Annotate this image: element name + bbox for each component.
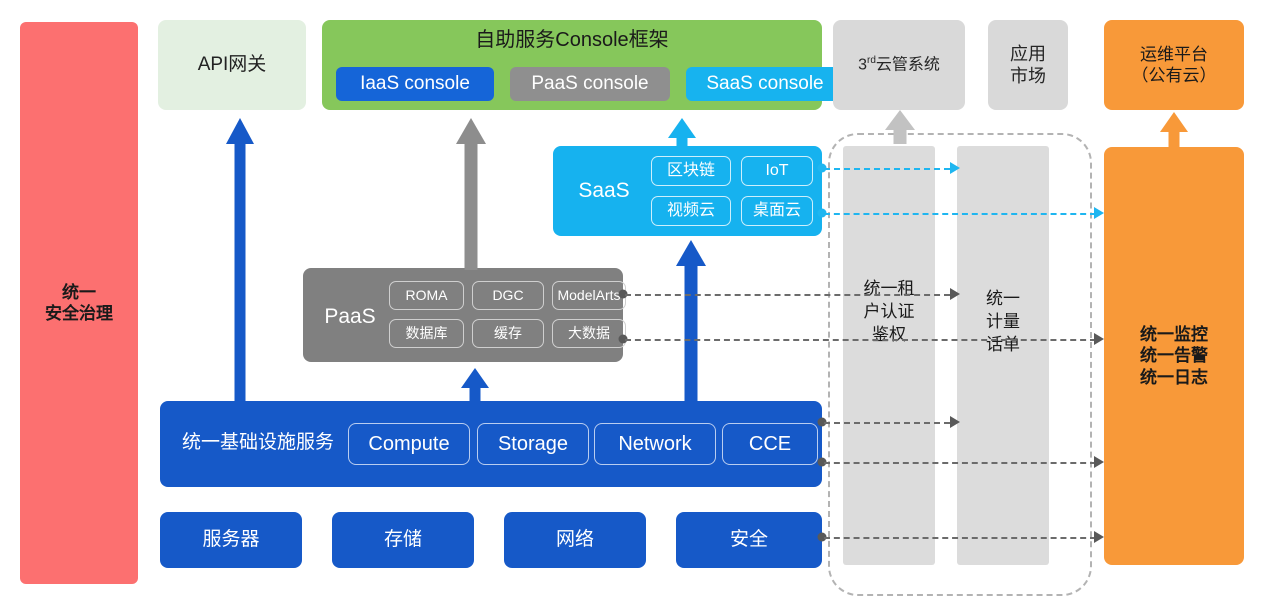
app-market-line1: 应用	[1010, 43, 1046, 66]
security-governance-line1: 统一	[45, 282, 113, 303]
iaas-console-chip[interactable]: IaaS console	[336, 67, 494, 101]
saas-chip-iot[interactable]: IoT	[741, 156, 813, 186]
paas-chip-cache[interactable]: 缓存	[472, 319, 544, 348]
connector-iaas-to-metering	[824, 422, 950, 424]
iaas-chip-network[interactable]: Network	[594, 423, 716, 465]
connector-paas-to-ops	[625, 339, 1096, 341]
auth-line2: 户认证	[843, 301, 935, 324]
resource-server-block: 服务器	[160, 512, 302, 568]
ops-monitoring-line1: 统一监控	[1140, 324, 1208, 345]
arrow-iaas-to-saas	[676, 240, 706, 402]
api-gateway-label: API网关	[198, 53, 267, 77]
unified-infrastructure-band: 统一基础设施服务 Compute Storage Network CCE	[160, 401, 822, 487]
connector-saas-to-metering	[824, 168, 950, 170]
saas-console-chip[interactable]: SaaS console	[686, 67, 844, 101]
paas-chip-bigdata[interactable]: 大数据	[552, 319, 626, 348]
ops-platform-line2: （公有云）	[1132, 65, 1217, 86]
arrow-saas-to-console	[668, 118, 696, 148]
arrow-shared-to-third-party	[885, 110, 915, 144]
connector-saas-to-ops	[824, 213, 1096, 215]
unified-tenant-auth-column: 统一租 户认证 鉴权	[843, 146, 935, 565]
security-governance-block: 统一 安全治理	[20, 22, 138, 584]
paas-chip-roma[interactable]: ROMA	[389, 281, 464, 310]
paas-chip-database[interactable]: 数据库	[389, 319, 464, 348]
ops-platform-block: 运维平台 （公有云）	[1104, 20, 1244, 110]
connector-arrowhead-iaas-to-ops	[1094, 456, 1104, 468]
saas-chip-desktop-cloud[interactable]: 桌面云	[741, 196, 813, 226]
saas-block: SaaS 区块链 IoT 视频云 桌面云	[553, 146, 822, 236]
third-party-cloud-mgmt-block: 3rd云管系统	[833, 20, 965, 110]
metering-line3: 话单	[957, 334, 1049, 357]
connector-paas-to-metering	[625, 294, 950, 296]
saas-chip-blockchain[interactable]: 区块链	[651, 156, 731, 186]
connector-arrowhead-saas-to-ops	[1094, 207, 1104, 219]
connector-iaas-to-ops	[824, 462, 1096, 464]
paas-console-chip[interactable]: PaaS console	[510, 67, 670, 101]
connector-resources-to-ops	[824, 537, 1096, 539]
resource-security-block: 安全	[676, 512, 822, 568]
connector-arrowhead-resources-to-ops	[1094, 531, 1104, 543]
metering-line1: 统一	[957, 288, 1049, 311]
arrow-ops-column-to-ops-platform	[1160, 112, 1188, 148]
ops-monitoring-column: 统一监控 统一告警 统一日志	[1104, 147, 1244, 565]
arrow-paas-to-console	[456, 118, 486, 270]
connector-arrowhead-paas-to-metering	[950, 288, 960, 300]
app-market-block: 应用 市场	[988, 20, 1068, 110]
saas-label: SaaS	[565, 178, 643, 204]
unified-infrastructure-label: 统一基础设施服务	[172, 431, 344, 455]
arrow-iaas-to-paas	[461, 368, 489, 402]
paas-block: PaaS ROMA DGC ModelArts 数据库 缓存 大数据	[303, 268, 623, 362]
arrow-iaas-to-api-gateway	[226, 118, 254, 403]
architecture-diagram: 统一 安全治理 API网关 自助服务Console框架 IaaS console…	[0, 0, 1265, 605]
console-framework-block: 自助服务Console框架 IaaS console PaaS console …	[322, 20, 822, 110]
paas-label: PaaS	[313, 304, 387, 330]
ops-monitoring-line2: 统一告警	[1140, 345, 1208, 366]
unified-metering-column: 统一 计量 话单	[957, 146, 1049, 565]
paas-chip-dgc[interactable]: DGC	[472, 281, 544, 310]
ops-platform-line1: 运维平台	[1132, 44, 1217, 65]
resource-storage-block: 存储	[332, 512, 474, 568]
third-party-cloud-mgmt-label: 3rd云管系统	[858, 55, 940, 75]
auth-line3: 鉴权	[843, 324, 935, 347]
console-framework-title: 自助服务Console框架	[322, 28, 822, 53]
connector-arrowhead-iaas-to-metering	[950, 416, 960, 428]
iaas-chip-compute[interactable]: Compute	[348, 423, 470, 465]
resource-network-block: 网络	[504, 512, 646, 568]
ops-monitoring-line3: 统一日志	[1140, 367, 1208, 388]
iaas-chip-storage[interactable]: Storage	[477, 423, 589, 465]
saas-chip-video-cloud[interactable]: 视频云	[651, 196, 731, 226]
connector-arrowhead-saas-to-metering	[950, 162, 960, 174]
metering-line2: 计量	[957, 311, 1049, 334]
connector-arrowhead-paas-to-ops	[1094, 333, 1104, 345]
iaas-chip-cce[interactable]: CCE	[722, 423, 818, 465]
security-governance-line2: 安全治理	[45, 303, 113, 324]
api-gateway-block: API网关	[158, 20, 306, 110]
paas-chip-modelarts[interactable]: ModelArts	[552, 281, 626, 310]
auth-line1: 统一租	[843, 278, 935, 301]
app-market-line2: 市场	[1010, 65, 1046, 88]
